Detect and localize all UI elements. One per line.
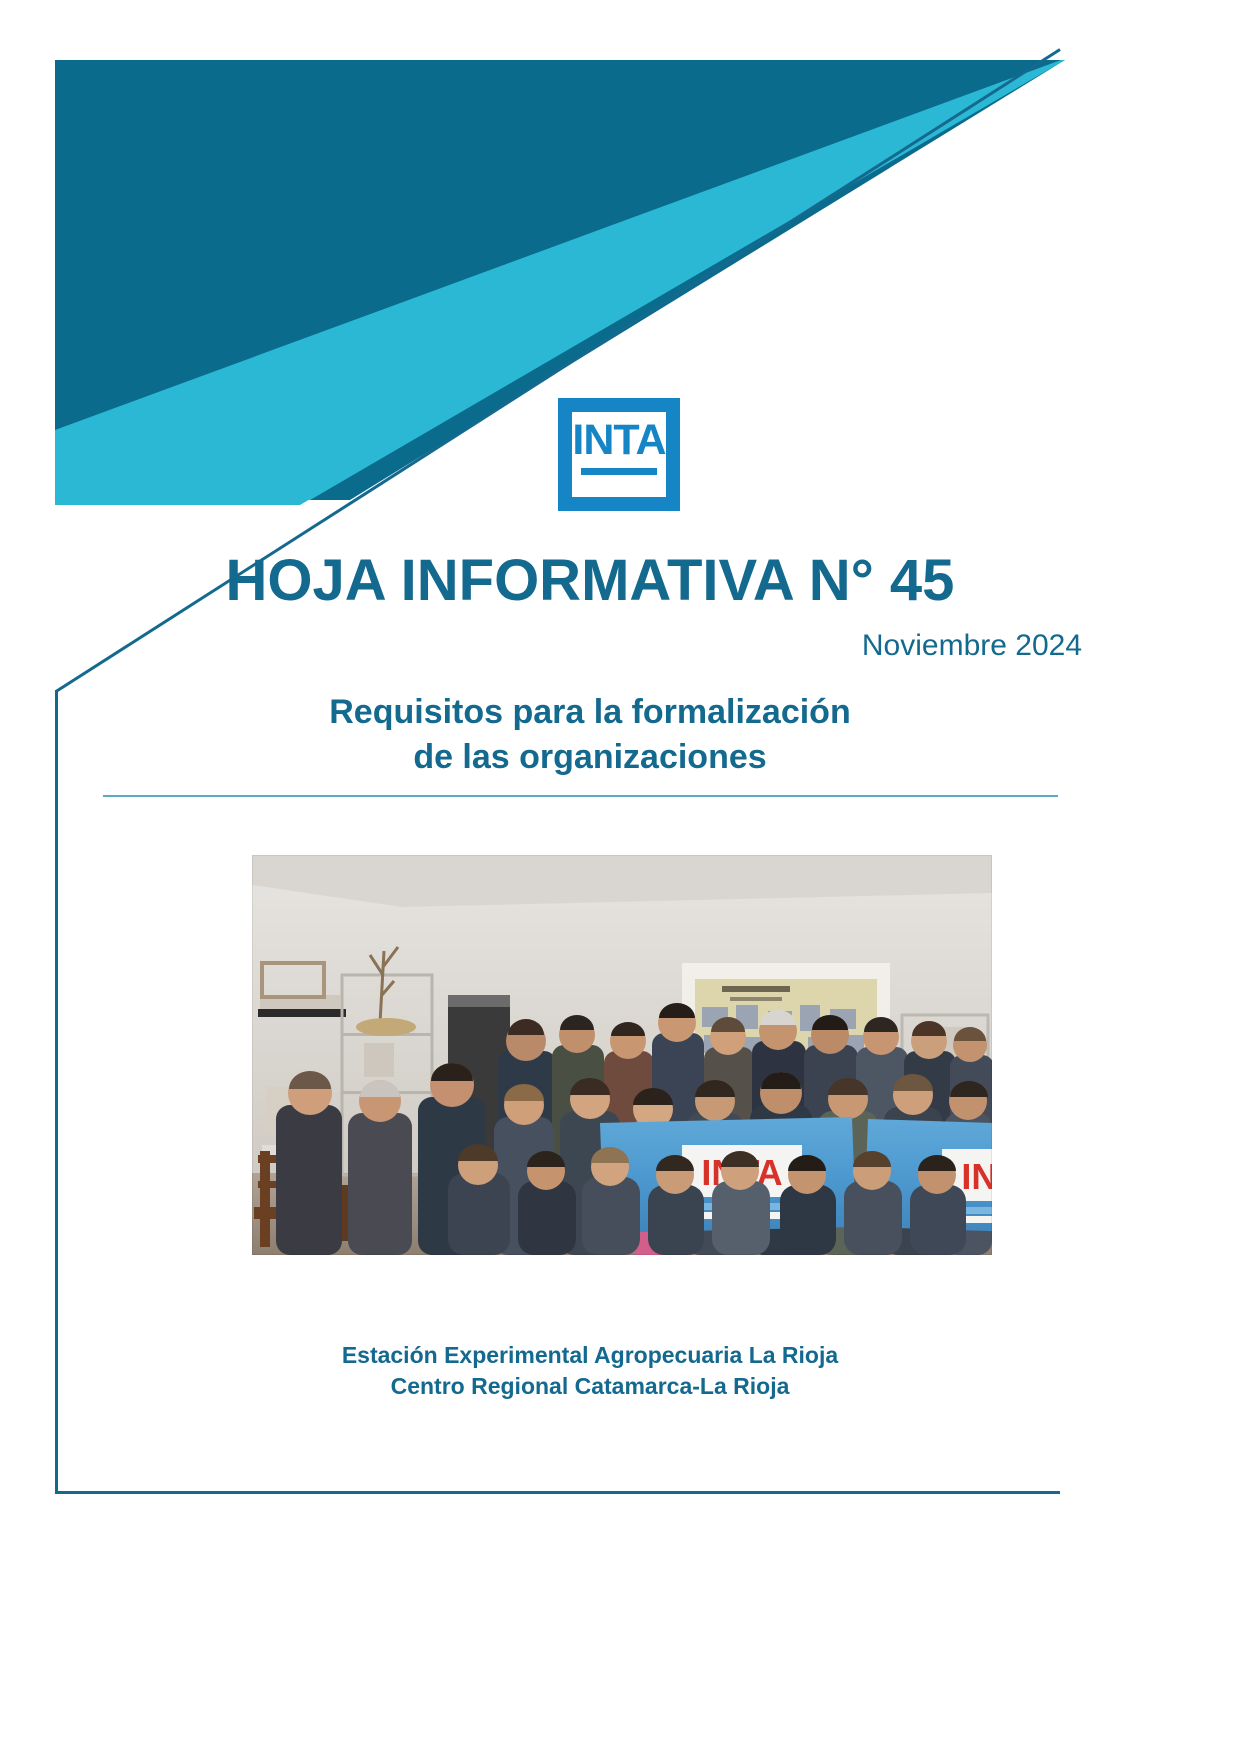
page-subtitle-line-2: de las organizaciones [95, 735, 1085, 780]
frame-bottom-rule [55, 1491, 1060, 1494]
inta-logo-underbar [581, 468, 657, 475]
page-subtitle-line-1: Requisitos para la formalización [95, 690, 1085, 735]
inta-logo-outer-border: INTA [558, 398, 680, 511]
cover-photo-illustration: INTA INTA [252, 855, 992, 1255]
title-block: HOJA INFORMATIVA N° 45 Noviembre 2024 Re… [95, 548, 1085, 780]
svg-text:INTA: INTA [961, 1156, 992, 1197]
page-canvas: INTA HOJA INFORMATIVA N° 45 Noviembre 20… [0, 0, 1241, 1754]
banner-dark-final [55, 60, 1061, 430]
footer-line-2: Centro Regional Catamarca-La Rioja [95, 1371, 1085, 1402]
footer-line-1: Estación Experimental Agropecuaria La Ri… [95, 1340, 1085, 1371]
inta-logo-inner-panel: INTA [567, 407, 671, 502]
page-title: HOJA INFORMATIVA N° 45 [95, 548, 1085, 614]
inta-logo-wordmark: INTA [572, 415, 665, 465]
page-subtitle: Requisitos para la formalización de las … [95, 690, 1085, 780]
frame-left-rule [55, 690, 58, 1494]
footer-block: Estación Experimental Agropecuaria La Ri… [95, 1340, 1085, 1402]
cover-photo: INTA INTA [252, 855, 992, 1255]
publication-date: Noviembre 2024 [95, 628, 1085, 664]
subtitle-divider [103, 795, 1058, 797]
inta-logo: INTA [558, 398, 680, 511]
